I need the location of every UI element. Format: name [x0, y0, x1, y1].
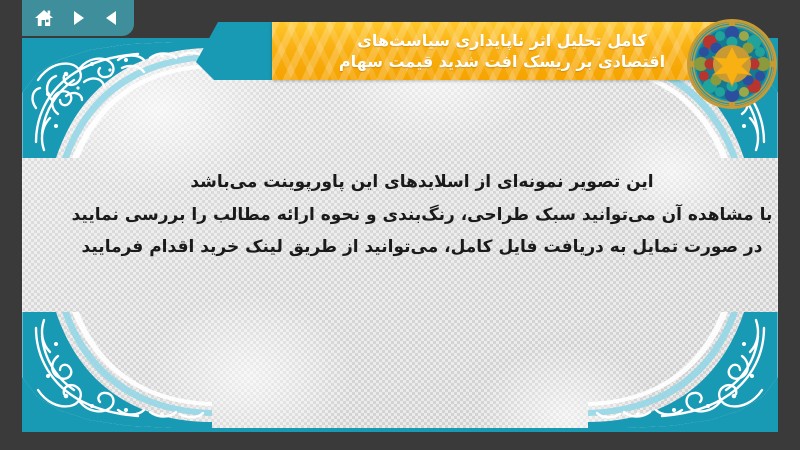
triangle-left-icon — [103, 9, 121, 27]
home-icon — [34, 8, 54, 28]
body-line-2: با مشاهده آن می‌توانید سبک طراحی، رنگ‌بن… — [52, 199, 778, 232]
slide-viewer: این تصویر نمونه‌ای از اسلایدهای این پاور… — [0, 0, 800, 450]
corner-ornament-bottom-right — [588, 312, 778, 432]
slide-frame: این تصویر نمونه‌ای از اسلایدهای این پاور… — [22, 38, 778, 432]
body-line-3: در صورت تمایل به دریافت فایل کامل، می‌تو… — [52, 231, 778, 264]
window-edge-bottom — [0, 432, 800, 450]
window-edge-right — [778, 0, 800, 450]
title-line-1: کامل تحلیل اثر ناپایداری سیاست‌های — [357, 30, 646, 51]
slide-surface: این تصویر نمونه‌ای از اسلایدهای این پاور… — [22, 38, 778, 432]
forward-button[interactable] — [66, 6, 90, 30]
title-line-2: اقتصادی بر ریسک افت شدید قیمت سهام — [339, 51, 665, 72]
persian-mandala-icon — [686, 18, 778, 110]
body-line-1: این تصویر نمونه‌ای از اسلایدهای این پاور… — [52, 166, 778, 199]
triangle-right-icon — [69, 9, 87, 27]
corner-ornament-top-left — [22, 38, 212, 158]
home-button[interactable] — [32, 6, 56, 30]
navigation-bar — [22, 0, 134, 36]
back-button[interactable] — [100, 6, 124, 30]
window-edge-left — [0, 0, 22, 450]
corner-ornament-bottom-left — [22, 312, 212, 432]
slide-body-text: این تصویر نمونه‌ای از اسلایدهای این پاور… — [52, 166, 778, 264]
slide-title-banner: کامل تحلیل اثر ناپایداری سیاست‌های اقتصا… — [272, 22, 732, 80]
